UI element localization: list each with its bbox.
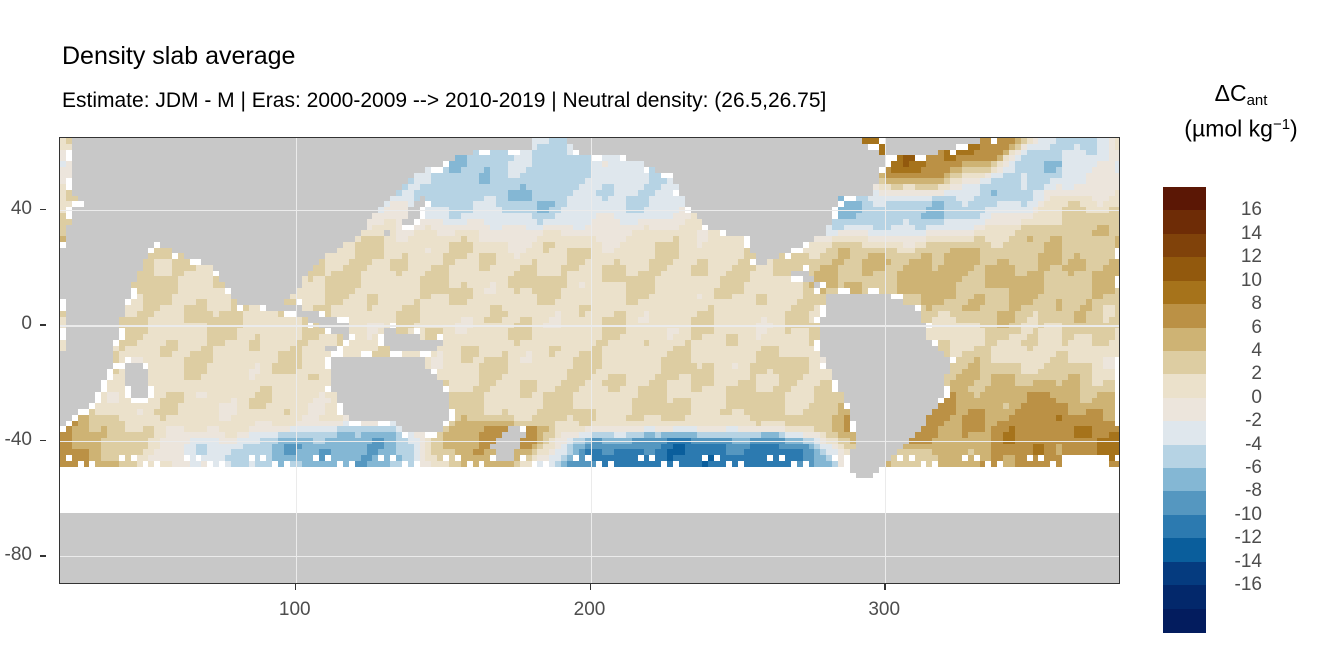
legend-band (1163, 187, 1206, 211)
y-tick-mark (40, 555, 46, 556)
legend: ΔCant (µmol kg−1) 1614121086420-2-4-6-8-… (1148, 78, 1344, 648)
legend-band (1163, 374, 1206, 398)
legend-tick-label: 14 (1214, 223, 1262, 245)
x-tick-label: 100 (279, 599, 311, 621)
legend-tick-label: 0 (1214, 387, 1262, 409)
legend-tick-label: 4 (1214, 340, 1262, 362)
y-tick-label: 40 (11, 198, 32, 220)
y-tick-label: -80 (5, 544, 32, 566)
legend-tick-label: -14 (1214, 551, 1262, 573)
legend-band (1163, 281, 1206, 305)
legend-band (1163, 609, 1206, 633)
legend-units: (µmol kg−1) (1148, 110, 1334, 144)
y-axis: 400-40-80 (0, 137, 46, 584)
legend-band (1163, 210, 1206, 234)
y-tick-mark (40, 209, 46, 210)
y-tick-mark (40, 440, 46, 441)
legend-band (1163, 257, 1206, 281)
x-tick-label: 200 (574, 599, 606, 621)
legend-band (1163, 445, 1206, 469)
legend-units-suffix: ) (1290, 116, 1298, 142)
x-tick-label: 300 (868, 599, 900, 621)
y-tick-label: 0 (21, 313, 32, 335)
legend-tick-label: -8 (1214, 480, 1262, 502)
legend-tick-label: 2 (1214, 363, 1262, 385)
legend-tick-label: -10 (1214, 504, 1262, 526)
legend-band (1163, 562, 1206, 586)
legend-tick-label: 16 (1214, 199, 1262, 221)
legend-title-subscript: ant (1247, 92, 1268, 109)
legend-band (1163, 468, 1206, 492)
x-tick-mark (884, 584, 885, 590)
x-axis: 100200300 (59, 584, 1120, 630)
page-title: Density slab average (62, 42, 295, 71)
legend-units-prefix: (µmol kg (1184, 116, 1273, 142)
legend-band (1163, 351, 1206, 375)
legend-units-exponent: −1 (1273, 116, 1290, 133)
page-subtitle: Estimate: JDM - M | Eras: 2000-2009 --> … (62, 88, 826, 113)
legend-title-main: ΔC (1215, 80, 1247, 106)
map-panel[interactable] (59, 137, 1120, 584)
legend-tick-label: -16 (1214, 574, 1262, 596)
legend-tick-label: -12 (1214, 527, 1262, 549)
legend-band (1163, 234, 1206, 258)
legend-band (1163, 585, 1206, 609)
legend-band (1163, 304, 1206, 328)
legend-tick-label: 8 (1214, 293, 1262, 315)
y-tick-label: -40 (5, 429, 32, 451)
x-tick-mark (590, 584, 591, 590)
legend-tick-label: -2 (1214, 410, 1262, 432)
map-raster (60, 138, 1119, 583)
legend-band (1163, 328, 1206, 352)
legend-band (1163, 421, 1206, 445)
legend-band (1163, 398, 1206, 422)
legend-tick-label: 6 (1214, 317, 1262, 339)
legend-tick-label: 12 (1214, 246, 1262, 268)
legend-tick-labels: 1614121086420-2-4-6-8-10-12-14-16 (1214, 187, 1334, 632)
legend-band (1163, 538, 1206, 562)
legend-tick-label: -6 (1214, 457, 1262, 479)
legend-band (1163, 491, 1206, 515)
x-tick-mark (295, 584, 296, 590)
legend-tick-label: 10 (1214, 270, 1262, 292)
y-tick-mark (40, 324, 46, 325)
legend-band (1163, 515, 1206, 539)
legend-colorbar[interactable] (1163, 187, 1206, 632)
legend-tick-label: -4 (1214, 434, 1262, 456)
